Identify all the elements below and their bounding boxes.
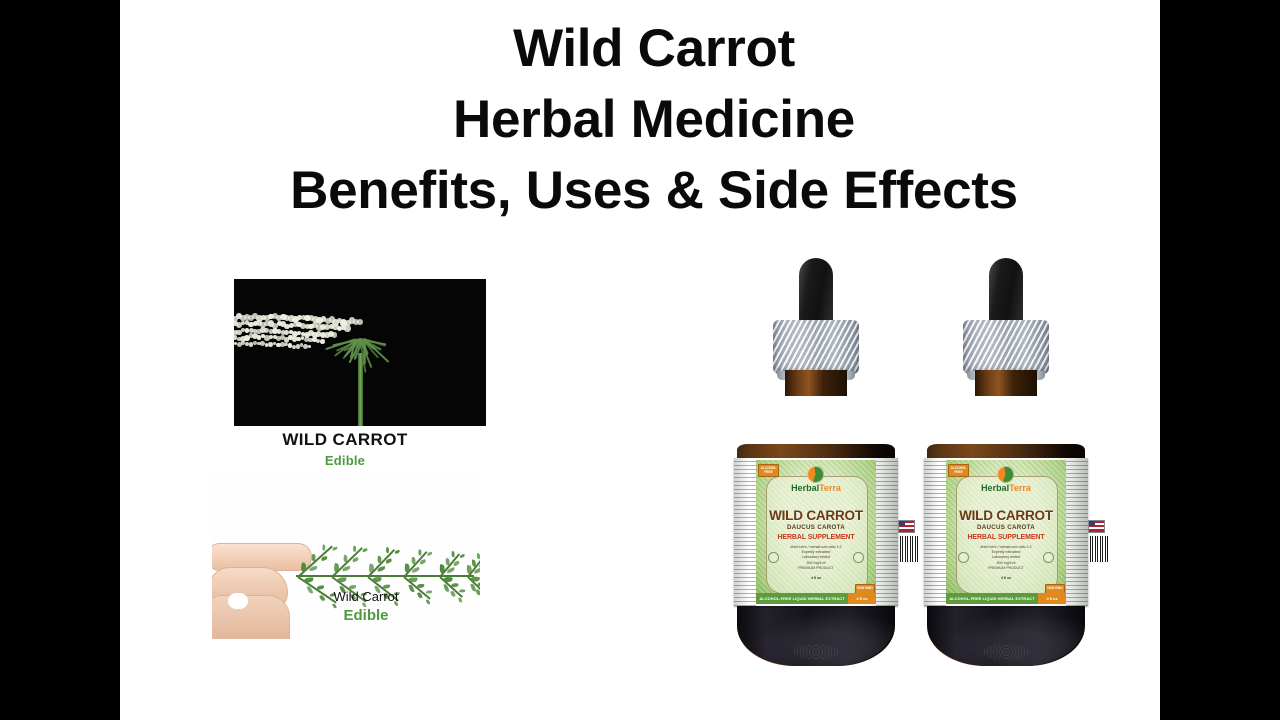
label-side-text-right [1066,458,1088,606]
label-bottom-banner: ALCOHOL-FREE LIQUID HERBAL EXTRACT 4 fl … [756,593,876,604]
title-line-2: Herbal Medicine [148,93,1160,146]
label-latin-name: DAUCUS CAROTA [756,524,876,531]
label-front-face: ALCOHOL FREE NON GMO HerbalTerra WILD CA… [946,460,1066,604]
label-supplement-line: HERBAL SUPPLEMENT [756,534,876,541]
barcode-icon [1090,536,1108,562]
hand-gap [228,593,248,609]
bottle-base [927,604,1085,666]
slide-title-block: Wild Carrot Herbal Medicine Benefits, Us… [120,22,1160,217]
dropper-cap [963,320,1049,374]
label-side-text-right [876,458,898,606]
globe-leaf-icon [998,466,1015,483]
video-frame: Wild Carrot Herbal Medicine Benefits, Us… [0,0,1280,720]
brand-name-part-2: Terra [1009,483,1031,493]
label-supplement-line: HERBAL SUPPLEMENT [946,534,1066,541]
usa-flag-icon [1088,520,1105,533]
label-product-name: WILD CARROT [756,508,876,523]
banner-extract-text: ALCOHOL-FREE LIQUID HERBAL EXTRACT [946,593,1038,604]
alcohol-free-badge: ALCOHOL FREE [758,464,779,477]
usa-flag-icon [898,520,915,533]
plant-caption-name-bottom: Wild Carrot [252,589,480,604]
herbal-terra-logo: HerbalTerra [791,466,841,493]
label-product-name: WILD CARROT [946,508,1066,523]
label-bottom-banner: ALCOHOL-FREE LIQUID HERBAL EXTRACT 4 fl … [946,593,1066,604]
banner-volume-text: 4 fl oz [848,593,876,604]
title-line-1: Wild Carrot [148,22,1160,75]
label-net-volume: 4 fl oz [946,576,1066,580]
product-bottle-1: ALCOHOL FREE NON GMO HerbalTerra WILD CA… [730,258,902,670]
plant-caption-edible-top: Edible [200,453,490,468]
brand-name-part-2: Terra [819,483,841,493]
label-fine-print: dried herb / menstruum ratio 1:3Expertly… [756,545,876,571]
globe-leaf-icon [808,466,825,483]
brand-name-part-1: Herbal [791,483,819,493]
bottle-shoulder [738,388,894,452]
bottle-label: ALCOHOL FREE NON GMO HerbalTerra WILD CA… [924,458,1088,606]
plant-caption-edible-bottom: Edible [252,607,480,624]
letterbox-bar-right [1160,0,1280,720]
label-latin-name: DAUCUS CAROTA [946,524,1066,531]
wild-carrot-plant-figure: WILD CARROT Edible Wild Carrot Edible [200,275,490,643]
label-fine-print: dried herb / menstruum ratio 1:3Expertly… [946,545,1066,571]
alcohol-free-badge: ALCOHOL FREE [948,464,969,477]
product-bottle-2: ALCOHOL FREE NON GMO HerbalTerra WILD CA… [920,258,1092,670]
wild-carrot-leaf-photo: Wild Carrot Edible [212,471,480,639]
herbal-terra-logo: HerbalTerra [981,466,1031,493]
label-side-text-left [734,458,756,606]
brand-name-part-1: Herbal [981,483,1009,493]
label-front-face: ALCOHOL FREE NON GMO HerbalTerra WILD CA… [756,460,876,604]
letterbox-bar-left [0,0,120,720]
label-net-volume: 4 fl oz [756,576,876,580]
wild-carrot-flower-photo [234,279,486,426]
bottle-shoulder [928,388,1084,452]
brand-name: HerbalTerra [791,484,841,493]
banner-extract-text: ALCOHOL-FREE LIQUID HERBAL EXTRACT [756,593,848,604]
dropper-cap [773,320,859,374]
bottle-base [737,604,895,666]
banner-volume-text: 4 fl oz [1038,593,1066,604]
flower-stem [358,353,363,426]
slide-content-area: Wild Carrot Herbal Medicine Benefits, Us… [120,0,1160,720]
barcode-icon [900,536,918,562]
brand-name: HerbalTerra [981,484,1031,493]
label-side-text-left [924,458,946,606]
bottle-label: ALCOHOL FREE NON GMO HerbalTerra WILD CA… [734,458,898,606]
title-line-3: Benefits, Uses & Side Effects [148,164,1160,217]
plant-caption-name-top: WILD CARROT [200,430,490,450]
